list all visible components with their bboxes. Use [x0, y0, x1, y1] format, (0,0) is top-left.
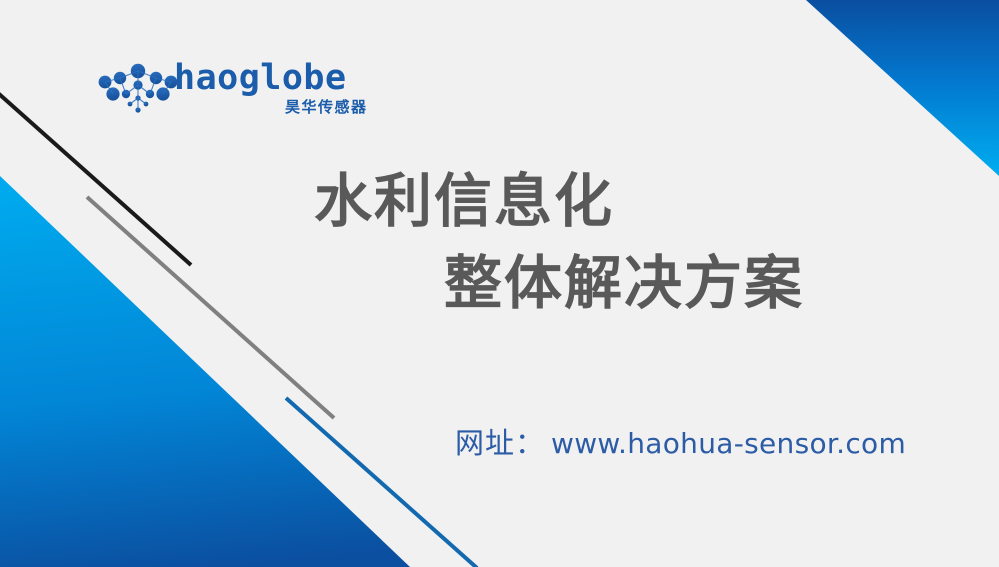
website-url[interactable]: www.haohua-sensor.com — [551, 427, 906, 460]
haoglobe-molecule-icon — [96, 63, 180, 115]
company-logo: haoglobe 昊华传感器 — [96, 57, 328, 125]
slide-title: 水利信息化 整体解决方案 — [300, 160, 920, 324]
logo-wordmark: haoglobe — [174, 59, 347, 97]
top-right-blue-triangle — [806, 0, 999, 176]
website-row: 网址： www.haohua-sensor.com — [455, 420, 906, 462]
title-slide: haoglobe 昊华传感器 水利信息化 整体解决方案 网址： www.haoh… — [0, 0, 999, 567]
website-label: 网址： — [455, 420, 545, 462]
title-line-1: 水利信息化 — [314, 160, 920, 242]
logo-subtitle-chinese: 昊华传感器 — [285, 98, 368, 116]
title-line-2: 整体解决方案 — [444, 242, 920, 324]
